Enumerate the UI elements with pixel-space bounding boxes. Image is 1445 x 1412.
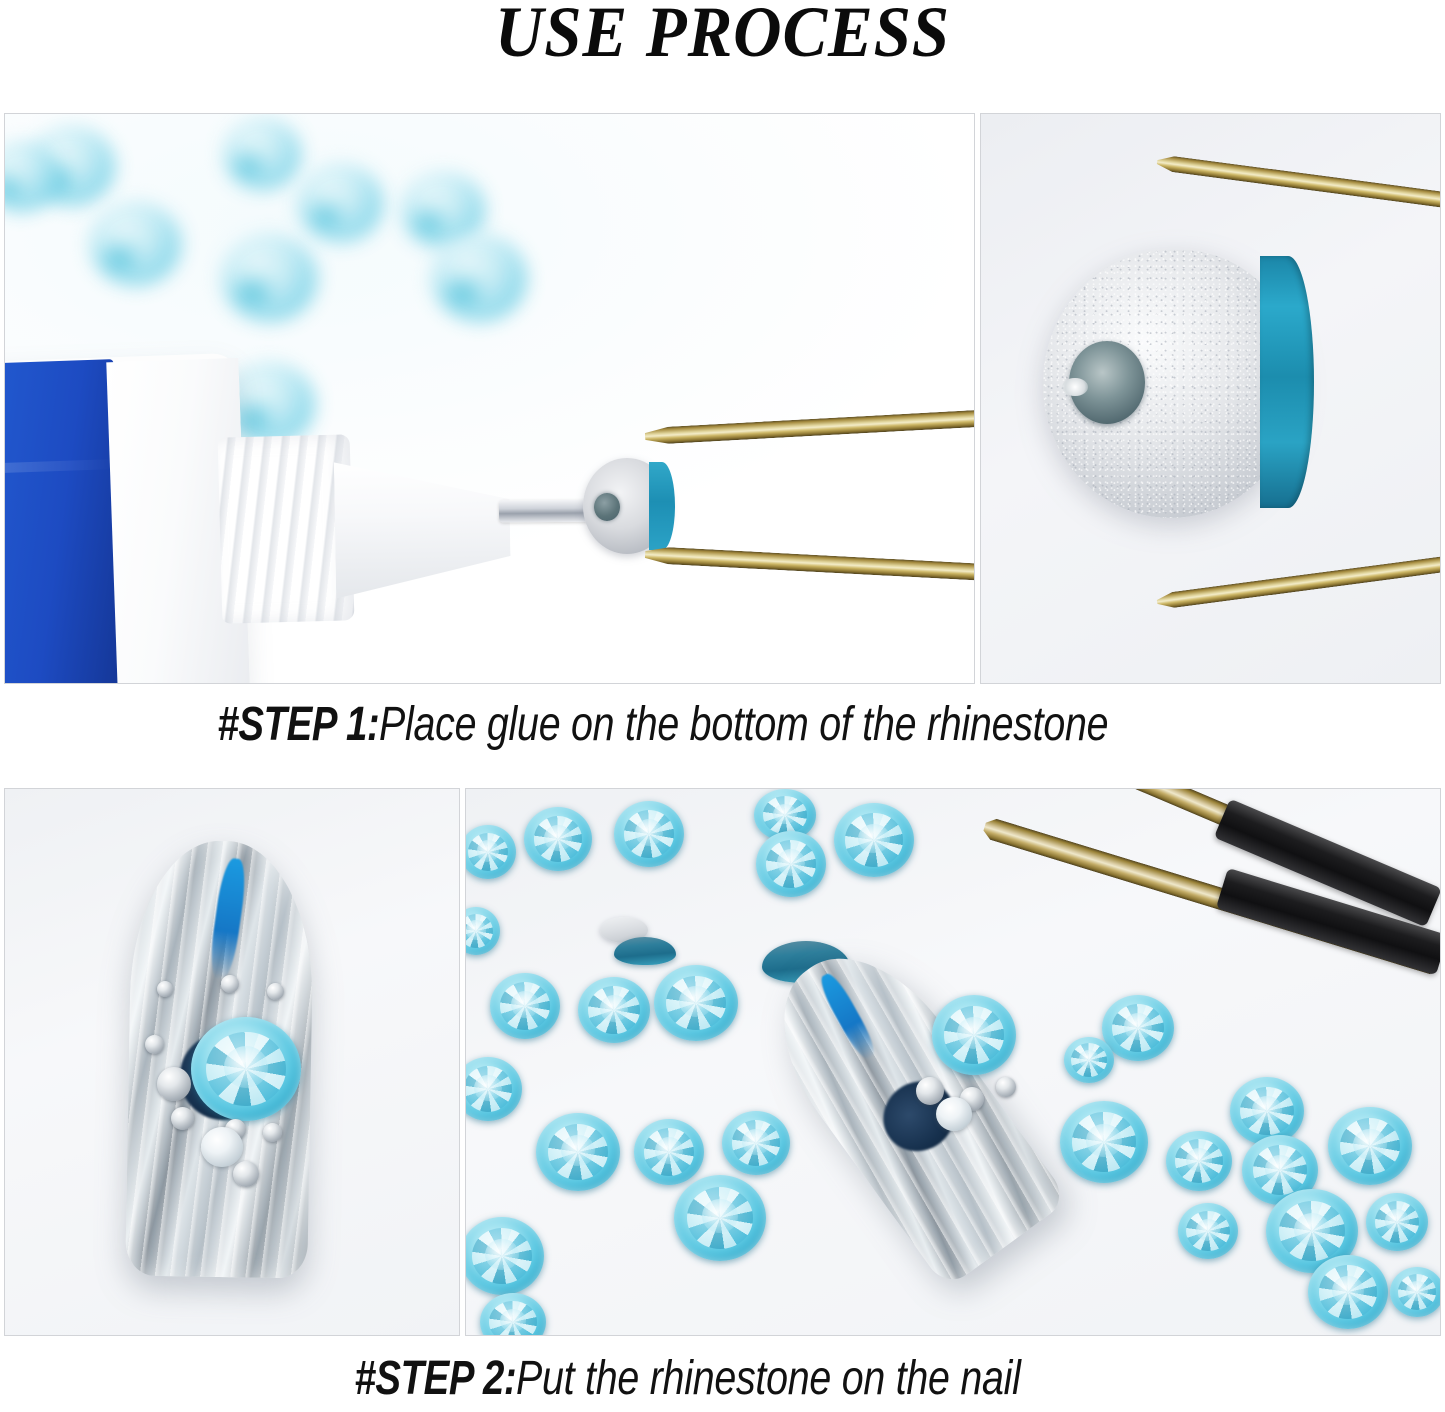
loose-rhinestone: [490, 973, 560, 1039]
loose-rhinestone: [524, 807, 592, 871]
silver-bead: [263, 1123, 282, 1142]
loose-rhinestone: [634, 1119, 704, 1185]
loose-rhinestone: [1366, 1193, 1428, 1251]
loose-rhinestone: [1230, 1077, 1304, 1145]
clear-rhinestone: [201, 1127, 243, 1167]
silver-bead: [171, 1107, 194, 1130]
loose-rhinestone: [722, 1111, 790, 1175]
loose-rhinestone: [1102, 995, 1174, 1061]
aqua-rhinestone-on-nail: [932, 995, 1016, 1075]
rhinestone-macro: [1043, 250, 1298, 518]
glue-on-rhinestone-photo: [4, 113, 975, 684]
blurred-rhinestone: [297, 164, 383, 242]
loose-rhinestone: [536, 1113, 620, 1191]
step-1-image-row: [4, 113, 1441, 684]
step-2-caption: #STEP 2: Put the rhinestone on the nail: [0, 1351, 1445, 1406]
silver-bead: [916, 1077, 944, 1105]
loose-rhinestone: [756, 831, 826, 897]
blurred-rhinestone: [223, 118, 301, 190]
loose-rhinestone: [1064, 1037, 1114, 1083]
loose-rhinestone: [834, 803, 914, 877]
loose-rhinestone: [1060, 1101, 1148, 1183]
silver-bead: [145, 1035, 164, 1054]
loose-rhinestone: [1328, 1107, 1412, 1185]
loose-rhinestone: [614, 801, 684, 867]
rhinestone-side-view: [614, 937, 676, 965]
blurred-rhinestone: [431, 234, 527, 322]
step-1-text: Place glue on the bottom of the rhinesto…: [379, 697, 1108, 752]
silver-bead: [996, 1077, 1016, 1097]
rhinestone-aqua-rim: [649, 462, 675, 550]
step-1-label: #STEP 1:: [217, 697, 379, 752]
applying-rhinestone-photo: [465, 788, 1441, 1336]
aqua-rhinestone-on-nail: [191, 1017, 301, 1121]
glue-dot: [594, 493, 620, 522]
clear-rhinestone: [936, 1097, 972, 1131]
silver-bead: [221, 975, 239, 993]
loose-rhinestone: [1308, 1255, 1388, 1329]
glue-dot: [1069, 341, 1146, 424]
blurred-rhinestone: [89, 202, 181, 286]
blurred-rhinestone: [221, 234, 317, 322]
step-2-image-row: [4, 788, 1441, 1336]
silver-bead: [157, 981, 173, 997]
loose-rhinestone: [1390, 1267, 1441, 1317]
loose-rhinestone: [1166, 1131, 1232, 1191]
rhinestone-back-macro-photo: [980, 113, 1441, 684]
finished-nail-photo: [4, 788, 460, 1336]
rhinestone-aqua-rim: [1260, 256, 1314, 508]
step-2-text: Put the rhinestone on the nail: [516, 1351, 1021, 1406]
loose-rhinestone: [1178, 1203, 1238, 1259]
silver-bead: [157, 1067, 191, 1101]
silver-bead: [233, 1161, 259, 1187]
step-1-caption: #STEP 1: Place glue on the bottom of the…: [0, 697, 1445, 752]
rhinestone-in-tweezers: [583, 458, 671, 554]
silver-bead: [267, 983, 284, 1000]
loose-rhinestone: [654, 965, 738, 1041]
step-2-label: #STEP 2:: [354, 1351, 516, 1406]
page-title: USE PROCESS: [51, 0, 1395, 68]
loose-rhinestone: [674, 1175, 766, 1261]
loose-rhinestone: [578, 977, 650, 1043]
